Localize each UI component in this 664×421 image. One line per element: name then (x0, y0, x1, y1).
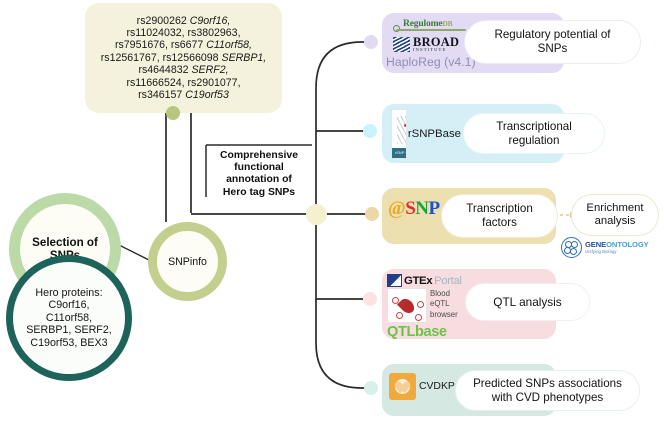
gtex-name: GTEx (404, 275, 432, 287)
gene-ontology-name-a: GENE (585, 240, 606, 249)
gene-symbol: SERBP1, (222, 52, 267, 64)
central-hub-node (306, 204, 327, 225)
cvdkp-logo: CVDKP (389, 373, 455, 400)
pill-cvd-associations-label: Predicted SNPs associations with CVD phe… (473, 377, 622, 404)
snp-list-line: rs2900262 C9orf16, (101, 15, 267, 27)
gene-symbol: C19orf53 (185, 89, 229, 101)
branch-dot-qtl (363, 292, 377, 306)
rsnpbase-logo: rSNP Search rSNPBase (391, 110, 461, 158)
rs-id-group: rs11024032, rs3802963, (126, 27, 240, 39)
snp-list-box: rs2900262 C9orf16,rs11024032, rs3802963,… (85, 3, 282, 113)
gtex-portal-logo: GTExPortal Blood eQTL browser QTLbase (387, 274, 465, 336)
haploreg-label: HaploReg (v4.1) (386, 55, 476, 69)
snpinfo-label: SNPinfo (168, 256, 207, 268)
snp-list-line: rs11024032, rs3802963, (101, 27, 267, 39)
broad-subtitle: INSTITUTE (413, 48, 459, 53)
rs-id-group: rs2900262 (137, 15, 190, 27)
pill-qtl-analysis-label: QTL analysis (493, 295, 561, 309)
snp2tfbs-char-2: N (415, 198, 428, 219)
branch-dot-transcription-factors (365, 207, 379, 221)
pill-transcription-factors: Transcription factors (441, 194, 558, 238)
snp2tfbs-char-1: S (405, 198, 415, 219)
rs-id-group: rs346157 (138, 89, 185, 101)
snp-list-line: rs4644832 SERF2, (101, 64, 267, 76)
snp2tfbs-char-3: P (429, 198, 440, 219)
rsnpbase-card-icon: rSNP Search (391, 109, 407, 159)
snpinfo-circle: SNPinfo (148, 222, 227, 301)
gene-symbol: C9orf16, (190, 15, 231, 27)
pill-qtl-analysis: QTL analysis (465, 283, 590, 321)
rsnpbase-badge: rSNP Search (392, 148, 407, 155)
snp-list-line: rs12561767, rs12566098 SERBP1, (101, 52, 267, 64)
rs-id-group: rs11666524, rs2901077, (126, 77, 240, 89)
snp2tfbs-char-0: @ (388, 198, 405, 219)
rs-id-group: rs4644832 (138, 64, 191, 76)
pill-cvd-associations: Predicted SNPs associations with CVD phe… (455, 370, 640, 411)
snp-list-line: rs7951676, rs6677 C11orf58, (101, 39, 267, 51)
eqtl-line-1: eQTL (430, 299, 458, 309)
eqtl-line-2: browser (430, 310, 458, 320)
gene-symbol: C11orf58, (206, 39, 252, 51)
snp2tfbs-logo: @SNP (388, 199, 440, 218)
gene-symbol: SERF2, (191, 64, 228, 76)
pill-enrichment-analysis-label: Enrichment analysis (586, 202, 643, 228)
blood-eqtl-icon (387, 288, 427, 323)
diagram-canvas: rs2900262 C9orf16,rs11024032, rs3802963,… (0, 0, 664, 421)
regulomedb-name: Regulome (403, 18, 442, 29)
pill-regulatory-potential: Regulatory potential of SNPs (464, 20, 641, 64)
branch-dot-transcriptional (363, 124, 377, 138)
rs-id-group: rs12561767, rs12566098 (101, 52, 222, 64)
broad-stripes-icon (393, 37, 410, 52)
rsnpbase-name: rSNPBase (408, 128, 461, 140)
regulomedb-underline (396, 29, 466, 31)
pill-enrichment-analysis: Enrichment analysis (571, 194, 659, 236)
pill-regulatory-potential-label: Regulatory potential of SNPs (494, 28, 610, 55)
branch-dot-regulatory (364, 35, 378, 49)
gene-ontology-nodes-icon (561, 237, 582, 258)
qtlbase-name: QTLbase (387, 324, 465, 340)
hero-proteins-label: Hero proteins: C9orf16, C11orf58, SERBP1… (26, 287, 112, 350)
regulomedb-suffix: DB (442, 19, 452, 28)
snp-list-line: rs11666524, rs2901077, (101, 77, 267, 89)
pill-transcription-factors-label: Transcription factors (466, 202, 533, 229)
branch-dot-cvdkp (364, 381, 378, 395)
rs-id-group: rs7951676, rs6677 (115, 39, 206, 51)
snp-list-text: rs2900262 C9orf16,rs11024032, rs3802963,… (101, 15, 267, 102)
regulomedb-logo: RegulomeDB (392, 18, 470, 31)
hero-proteins-circle: Hero proteins: C9orf16, C11orf58, SERBP1… (6, 255, 132, 381)
center-annotation-label: Comprehensive functional annotation of H… (206, 150, 312, 199)
gene-ontology-name-b: ONTOLOGY (606, 240, 649, 249)
gtex-mark-icon (387, 274, 402, 287)
pill-transcriptional-regulation-label: Transcriptional regulation (496, 120, 572, 147)
snp-box-anchor-dot (166, 106, 180, 120)
gene-ontology-tagline: Unifying Biology (585, 250, 649, 254)
pill-transcriptional-regulation: Transcriptional regulation (463, 113, 605, 154)
blood-eqtl-browser-label: Blood eQTL browser (430, 288, 458, 323)
cvdkp-heart-icon (389, 373, 416, 400)
snp-list-line: rs346157 C19orf53 (101, 89, 267, 101)
eqtl-line-0: Blood (430, 289, 458, 299)
cvdkp-name: CVDKP (419, 381, 455, 392)
gene-ontology-logo: GENEONTOLOGY Unifying Biology (561, 237, 649, 258)
gtex-portal-word: Portal (434, 275, 461, 287)
